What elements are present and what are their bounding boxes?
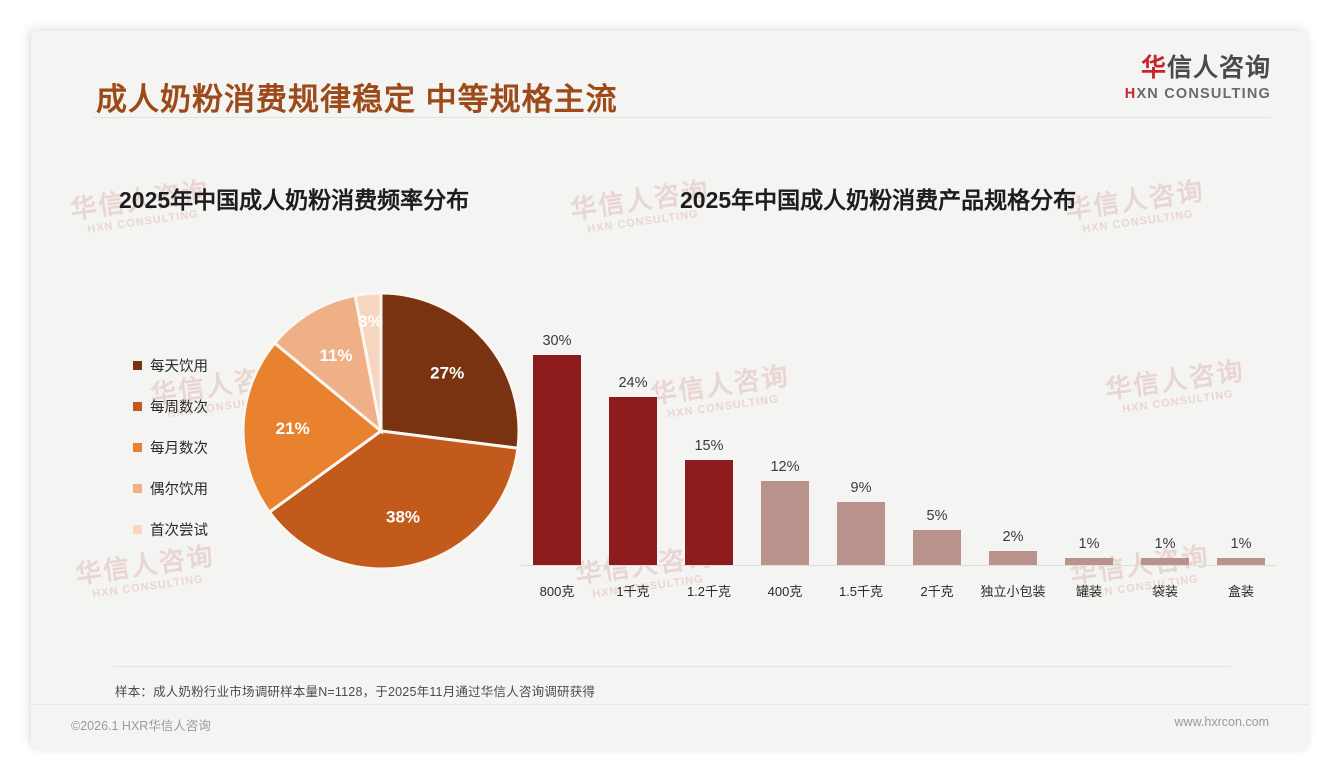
pie-legend-label: 每月数次 [150,437,208,458]
pie-legend-item[interactable]: 首次尝试 [133,518,208,540]
pie-legend: 每天饮用每周数次每月数次偶尔饮用首次尝试 [133,354,208,559]
pie-legend-label: 每天饮用 [150,355,208,376]
bar-category-label: 2千克 [920,581,953,600]
bar-category-label: 1.2千克 [687,581,731,600]
bar-rect[interactable] [685,460,733,565]
bar-category-label: 罐装 [1076,581,1102,600]
bar-category-label: 1.5千克 [839,581,883,600]
logo-cn-gray: 信人咨询 [1167,54,1271,82]
pie-slice-label: 11% [319,346,352,365]
bar-rect[interactable] [1065,558,1113,565]
pie-slice-label: 38% [386,508,420,527]
sample-footnote: 样本：成人奶粉行业市场调研样本量N=1128，于2025年11月通过华信人咨询调… [115,681,595,700]
pie-chart-title: 2025年中国成人奶粉消费频率分布 [119,181,469,215]
logo-chinese: 华信人咨询 [1125,55,1271,83]
footer-copyright: ©2026.1 HXR华信人咨询 [71,715,211,734]
legend-swatch-icon [133,484,142,493]
footer-website[interactable]: www.hxrcon.com [1175,715,1269,729]
bar-column[interactable]: 1%袋装 [1127,315,1203,565]
logo-en-gray: XN CONSULTING [1136,86,1271,102]
bar-column[interactable]: 9%1.5千克 [823,315,899,565]
logo-en-red: H [1125,86,1137,102]
bar-column[interactable]: 12%400克 [747,315,823,565]
footnote-divider [113,666,1231,667]
bar-value-label: 5% [927,508,948,524]
bar-value-label: 24% [618,375,647,391]
bar-column[interactable]: 15%1.2千克 [671,315,747,565]
bar-chart-plot: 30%800克24%1千克15%1.2千克12%400克9%1.5千克5%2千克… [519,315,1279,565]
bar-chart-title: 2025年中国成人奶粉消费产品规格分布 [680,181,1076,215]
brand-logo: 华信人咨询 HXN CONSULTING [1125,55,1271,102]
bar-rect[interactable] [1217,558,1265,565]
bar-column[interactable]: 30%800克 [519,315,595,565]
legend-swatch-icon [133,443,142,452]
pie-slice-label: 27% [430,364,464,383]
watermark: 华信人咨询 HXN CONSULTING [1064,176,1209,238]
bar-category-label: 1千克 [616,581,649,600]
watermark-cn: 华信人咨询 [1064,176,1207,225]
logo-english: HXN CONSULTING [1125,86,1271,102]
pie-legend-item[interactable]: 每周数次 [133,395,208,417]
bar-column[interactable]: 1%盒装 [1203,315,1279,565]
pie-chart-svg: 27%38%21%11%3% [231,281,531,581]
bar-rect[interactable] [837,502,885,565]
pie-legend-label: 每周数次 [150,396,208,417]
bar-rect[interactable] [761,481,809,565]
bar-chart-axis [521,565,1277,566]
bar-column[interactable]: 2%独立小包装 [975,315,1051,565]
bar-rect[interactable] [913,530,961,565]
bar-category-label: 400克 [768,581,803,600]
bar-rect[interactable] [533,355,581,565]
footer-divider [31,704,1309,705]
slide-card: 华信人咨询 HXN CONSULTING 华信人咨询 HXN CONSULTIN… [31,31,1309,749]
bar-rect[interactable] [989,551,1037,565]
pie-legend-item[interactable]: 每天饮用 [133,354,208,376]
bar-value-label: 1% [1155,536,1176,552]
pie-legend-label: 首次尝试 [150,519,208,540]
pie-slice-label: 21% [276,419,310,438]
bar-column[interactable]: 1%罐装 [1051,315,1127,565]
pie-legend-item[interactable]: 每月数次 [133,436,208,458]
legend-swatch-icon [133,361,142,370]
bar-value-label: 30% [542,333,571,349]
bar-column[interactable]: 5%2千克 [899,315,975,565]
bar-rect[interactable] [609,397,657,565]
pie-legend-label: 偶尔饮用 [150,478,208,499]
bar-rect[interactable] [1141,558,1189,565]
pie-legend-item[interactable]: 偶尔饮用 [133,477,208,499]
legend-swatch-icon [133,402,142,411]
watermark-en: HXN CONSULTING [1068,206,1208,238]
bar-value-label: 1% [1079,536,1100,552]
pie-slice-label: 3% [358,312,383,331]
slide-header: 成人奶粉消费规律稳定 中等规格主流 华信人咨询 HXN CONSULTING [31,31,1309,121]
bar-category-label: 盒装 [1228,581,1254,600]
bar-category-label: 独立小包装 [980,581,1045,600]
legend-swatch-icon [133,525,142,534]
page-title: 成人奶粉消费规律稳定 中等规格主流 [96,74,618,119]
bar-value-label: 12% [770,459,799,475]
logo-cn-red: 华 [1141,54,1167,82]
bar-value-label: 15% [694,438,723,454]
bar-value-label: 2% [1003,529,1024,545]
bar-column[interactable]: 24%1千克 [595,315,671,565]
bar-chart: 30%800克24%1千克15%1.2千克12%400克9%1.5千克5%2千克… [519,281,1279,601]
bar-category-label: 800克 [540,581,575,600]
bar-value-label: 1% [1231,536,1252,552]
pie-chart: 每天饮用每周数次每月数次偶尔饮用首次尝试 27%38%21%11%3% [91,271,541,621]
bar-category-label: 袋装 [1152,581,1178,600]
bar-value-label: 9% [851,480,872,496]
